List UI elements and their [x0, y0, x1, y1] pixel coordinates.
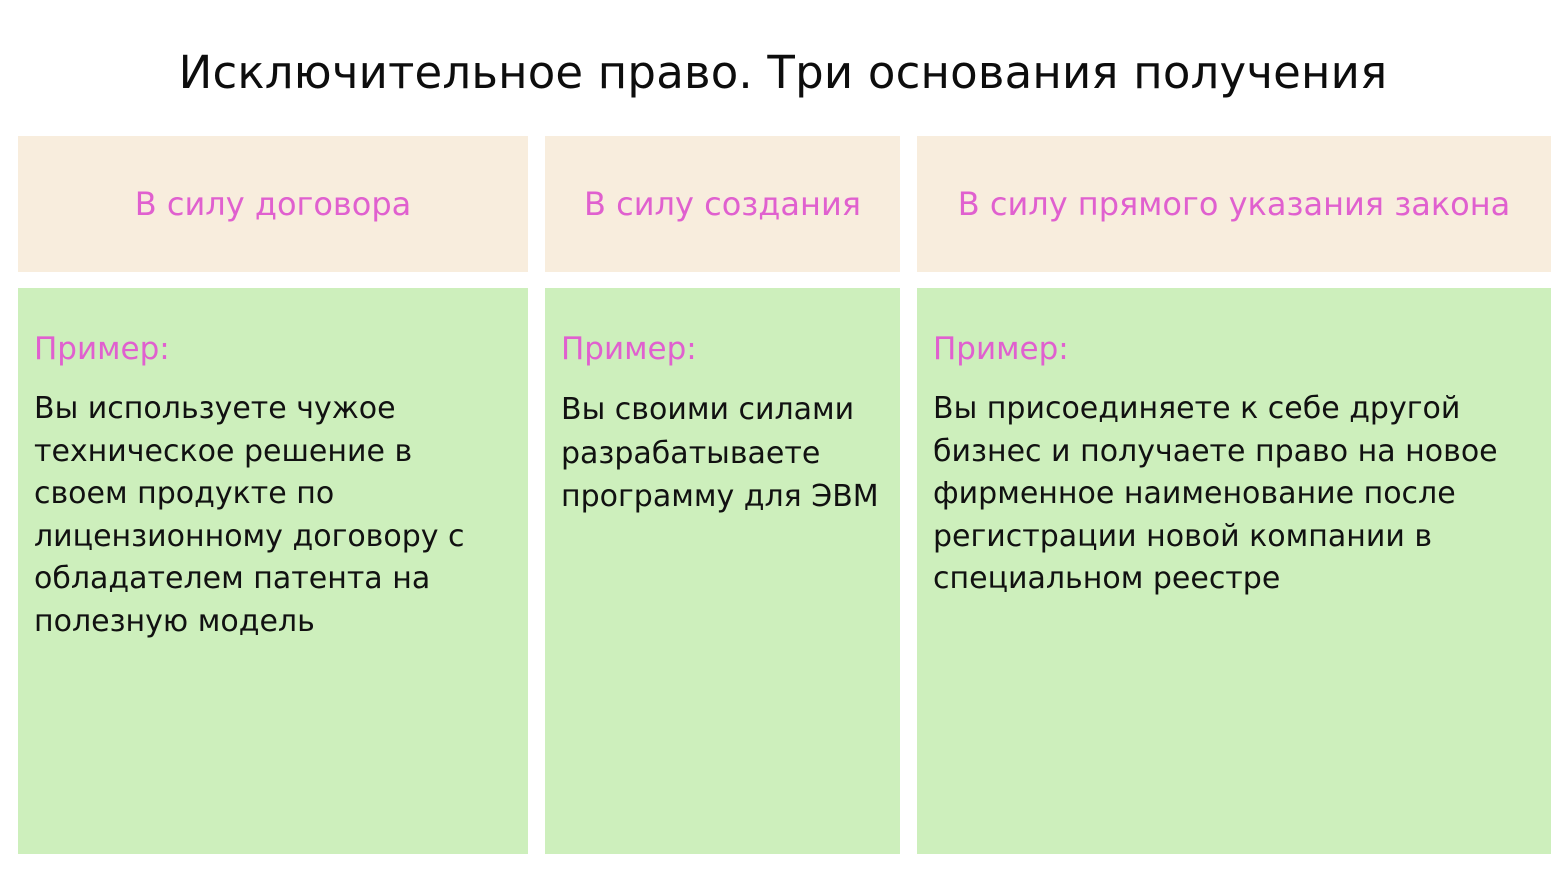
example-label-3: Пример: [933, 332, 1535, 366]
example-label-2: Пример: [561, 332, 884, 366]
column-header-label-2: В силу создания [584, 184, 861, 225]
column-body-card-2: Пример: Вы своими силами разрабатываете … [545, 288, 900, 854]
page-title: Исключительное право. Три основания полу… [0, 46, 1566, 100]
example-text-1: Вы используете чужое техническое решение… [34, 388, 512, 644]
three-column-board: В силу договора В силу создания В силу п… [18, 136, 1551, 854]
column-body-card-3: Пример: Вы присоединяете к себе другой б… [917, 288, 1551, 854]
column-header-label-1: В силу договора [135, 184, 412, 225]
example-label-1: Пример: [34, 332, 512, 366]
column-header-card-3: В силу прямого указания закона [917, 136, 1551, 272]
example-text-2: Вы своими силами разрабатываете программ… [561, 388, 884, 519]
column-header-label-3: В силу прямого указания закона [958, 184, 1511, 225]
column-body-card-1: Пример: Вы используете чужое техническое… [18, 288, 528, 854]
column-header-card-1: В силу договора [18, 136, 528, 272]
slide-root: Исключительное право. Три основания полу… [0, 0, 1566, 880]
example-text-3: Вы присоединяете к себе другой бизнес и … [933, 388, 1535, 601]
column-header-card-2: В силу создания [545, 136, 900, 272]
